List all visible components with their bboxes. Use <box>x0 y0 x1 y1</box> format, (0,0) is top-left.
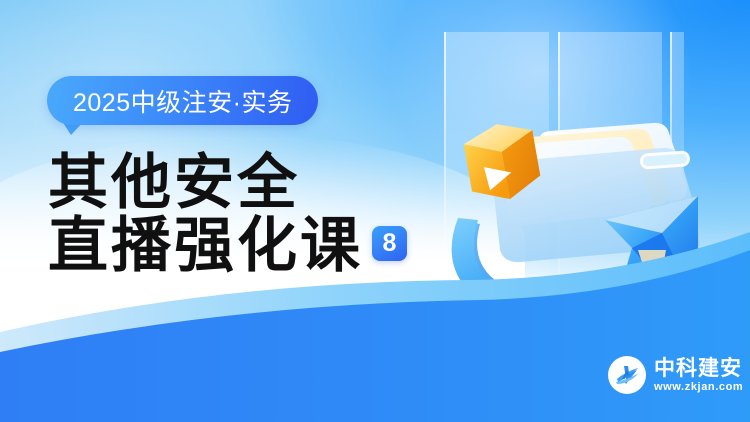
headline-block: 其他安全 直播强化课 8 <box>48 152 407 278</box>
headline-line-1-text: 其他安全 <box>48 148 300 218</box>
course-promo-banner: 2025中级注安·实务 其他安全 直播强化课 8 中科建安 www.zkjan. <box>0 0 750 422</box>
headline-line-1: 其他安全 <box>48 152 407 215</box>
headline-line-2: 直播强化课 8 <box>48 215 407 278</box>
course-tag[interactable]: 2025中级注安·实务 <box>47 76 318 125</box>
brand-logo[interactable]: 中科建安 www.zkjan.com <box>608 356 743 394</box>
course-tag-label: 2025中级注安·实务 <box>73 83 292 119</box>
headline-line-2-text: 直播强化课 <box>48 215 363 278</box>
brand-url: www.zkjan.com <box>654 380 743 394</box>
brand-name: 中科建安 <box>654 357 743 380</box>
brand-text-block: 中科建安 www.zkjan.com <box>654 357 743 394</box>
episode-badge: 8 <box>372 226 407 261</box>
zkjan-logo-icon <box>608 356 646 394</box>
